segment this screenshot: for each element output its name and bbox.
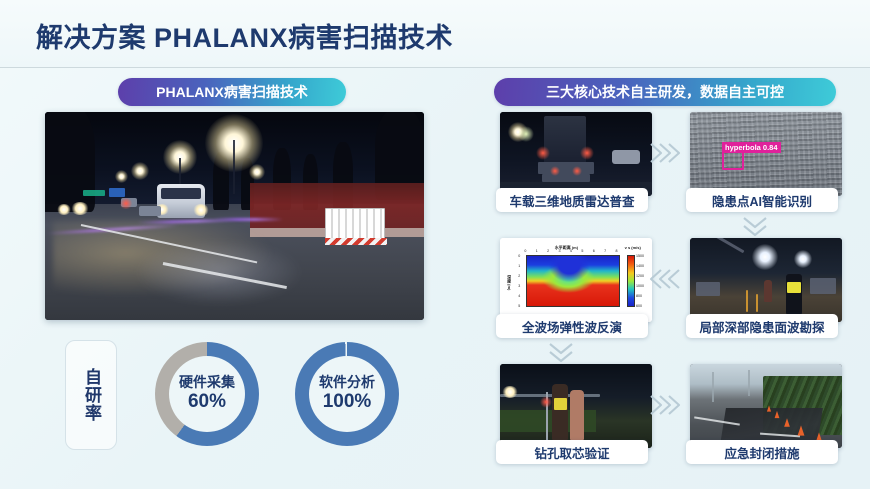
warning-light-icon — [540, 396, 552, 408]
oncoming-headlight — [71, 202, 89, 215]
colorbar-tick: 1500 — [636, 254, 644, 258]
process-cell-road-sealing: 应急封闭措施 — [690, 364, 842, 448]
x-tick: 6 — [593, 249, 595, 253]
x-tick: 1 — [536, 249, 538, 253]
x-tick: 5 — [581, 249, 583, 253]
taillight-glow-icon — [119, 198, 133, 209]
three-core-technology-grid: 车载三维地质雷达普查 hyperbola 0.84 隐患点AI智能识别 水平距离… — [494, 108, 854, 480]
arrow-down-left-icon — [546, 340, 576, 369]
work-light-glow-icon — [794, 250, 812, 268]
cell-caption-ai-detection: 隐患点AI智能识别 — [686, 188, 838, 212]
detection-bounding-box — [722, 150, 744, 170]
streetlight-glow-icon — [249, 164, 265, 180]
page-header: 解决方案 PHALANX病害扫描技术 — [0, 0, 870, 68]
hiviz-vest — [554, 398, 567, 410]
taillight-glow-icon — [580, 146, 594, 160]
donut-label-software: 软件分析 — [319, 375, 375, 390]
gpr-antenna-rig — [538, 162, 594, 174]
van-headlight — [193, 204, 209, 216]
car-ahead — [139, 206, 161, 216]
inversion-heatmap — [526, 255, 620, 307]
x-tick: 0 — [524, 249, 526, 253]
arrow-right-row3-icon — [646, 392, 684, 423]
donut-value-software: 100% — [323, 391, 372, 413]
drilling-core-photo — [500, 364, 652, 448]
x-tick: 4 — [570, 249, 572, 253]
process-cell-seismic-inversion: 水平距离 (m) 深度 (m) v s (m/s) 0 1 2 3 4 5 6 … — [500, 238, 652, 322]
traffic-cone-icon — [775, 411, 780, 418]
arrow-down-right-icon — [740, 214, 770, 243]
taillight-glow-icon — [572, 166, 582, 176]
colorbar-tick: 1200 — [636, 274, 644, 278]
gpr-antenna-rig — [542, 174, 590, 182]
chart-ylabel: 深度 (m) — [506, 275, 512, 290]
work-light-glow-icon — [752, 244, 778, 270]
road-sealing-photo — [690, 364, 842, 448]
y-tick: 3 — [518, 284, 520, 288]
y-tick: 0 — [518, 254, 520, 258]
donut-center-hardware: 硬件采集 60% — [169, 356, 245, 432]
worker-figure — [786, 274, 802, 314]
gpr-truck-night-photo — [500, 112, 652, 196]
cell-caption-seismic-inversion: 全波场弹性波反演 — [496, 314, 648, 338]
self-research-rate-label: 自研率 — [81, 368, 101, 422]
survey-stake — [746, 290, 748, 312]
y-tick: 2 — [518, 274, 520, 278]
van-windshield — [161, 188, 201, 199]
donut-center-software: 软件分析 100% — [309, 356, 385, 432]
donut-label-hardware: 硬件采集 — [179, 375, 235, 390]
x-tick: 2 — [547, 249, 549, 253]
section-pill-left: PHALANX病害扫描技术 — [118, 78, 346, 106]
detection-label-tag: hyperbola 0.84 — [722, 142, 781, 153]
cell-caption-surface-wave-survey: 局部深部隐患面波勘探 — [686, 314, 838, 338]
pole — [712, 372, 714, 402]
self-research-kpi-row: 自研率 硬件采集 60% 软件分析 100% — [45, 336, 445, 462]
road-barrier-fence — [325, 208, 385, 240]
arrow-left-row2-icon — [646, 266, 684, 297]
y-tick: 1 — [518, 264, 520, 268]
x-tick: 8 — [616, 249, 618, 253]
process-cell-gpr-truck: 车载三维地质雷达普查 — [500, 112, 652, 196]
colorbar-tick: 800 — [636, 294, 642, 298]
blue-road-sign — [109, 188, 125, 197]
taillight-glow-icon — [536, 146, 550, 160]
parked-car — [612, 150, 640, 164]
section-pill-right: 三大核心技术自主研发，数据自主可控 — [494, 78, 836, 106]
cell-caption-road-sealing: 应急封闭措施 — [686, 440, 838, 464]
radargram-ai-detection: hyperbola 0.84 — [690, 112, 842, 196]
y-tick: 5 — [518, 304, 520, 308]
traffic-cone-icon — [784, 418, 790, 427]
cell-caption-drilling-core: 钻孔取芯验证 — [496, 440, 648, 464]
oncoming-headlight — [57, 204, 71, 215]
worker-figure — [764, 280, 772, 302]
barrier-stripe — [325, 238, 387, 245]
machinery — [810, 278, 836, 294]
surface-wave-survey-photo — [690, 238, 842, 322]
colorbar-tick: 600 — [636, 304, 642, 308]
taillight-glow-icon — [550, 166, 560, 176]
gpr-radargram — [690, 112, 842, 196]
x-tick: 3 — [559, 249, 561, 253]
tree-icon — [45, 112, 95, 212]
colorbar — [627, 255, 635, 307]
seismic-inversion-figure: 水平距离 (m) 深度 (m) v s (m/s) 0 1 2 3 4 5 6 … — [500, 238, 652, 322]
hero-photo-night-road-survey — [45, 112, 424, 320]
streetlight-glow-icon — [131, 162, 149, 180]
arrow-right-row1-icon — [646, 140, 684, 171]
vehicle-headlight — [502, 386, 518, 398]
green-road-sign — [83, 190, 105, 196]
process-cell-ai-detection: hyperbola 0.84 隐患点AI智能识别 — [690, 112, 842, 196]
survey-stake — [756, 294, 758, 312]
colorbar-tick: 1000 — [636, 284, 644, 288]
inversion-chart: 水平距离 (m) 深度 (m) v s (m/s) 0 1 2 3 4 5 6 … — [500, 238, 652, 322]
donut-value-hardware: 60% — [188, 391, 226, 413]
pole — [748, 370, 750, 396]
hiviz-vest — [787, 282, 801, 293]
process-cell-drilling-core: 钻孔取芯验证 — [500, 364, 652, 448]
worker-figure — [552, 384, 568, 440]
work-light-glow-icon — [518, 126, 534, 142]
truck-body — [544, 116, 586, 164]
process-cell-surface-wave-survey: 局部深部隐患面波勘探 — [690, 238, 842, 322]
page-title: 解决方案 PHALANX病害扫描技术 — [36, 16, 453, 55]
donut-chart-software: 软件分析 100% — [295, 342, 399, 446]
lamp-pole — [233, 140, 235, 194]
colorbar-label: v s (m/s) — [625, 245, 641, 250]
worker-figure — [570, 390, 584, 440]
streetlight-glow-icon — [115, 170, 128, 183]
cell-caption-gpr-truck: 车载三维地质雷达普查 — [496, 188, 648, 212]
machinery — [696, 282, 720, 296]
x-tick: 7 — [604, 249, 606, 253]
self-research-rate-label-box: 自研率 — [65, 340, 117, 450]
donut-chart-hardware: 硬件采集 60% — [155, 342, 259, 446]
traffic-cone-icon — [767, 405, 771, 411]
y-tick: 4 — [518, 294, 520, 298]
traffic-cone-icon — [798, 425, 805, 435]
colorbar-tick: 1400 — [636, 264, 644, 268]
